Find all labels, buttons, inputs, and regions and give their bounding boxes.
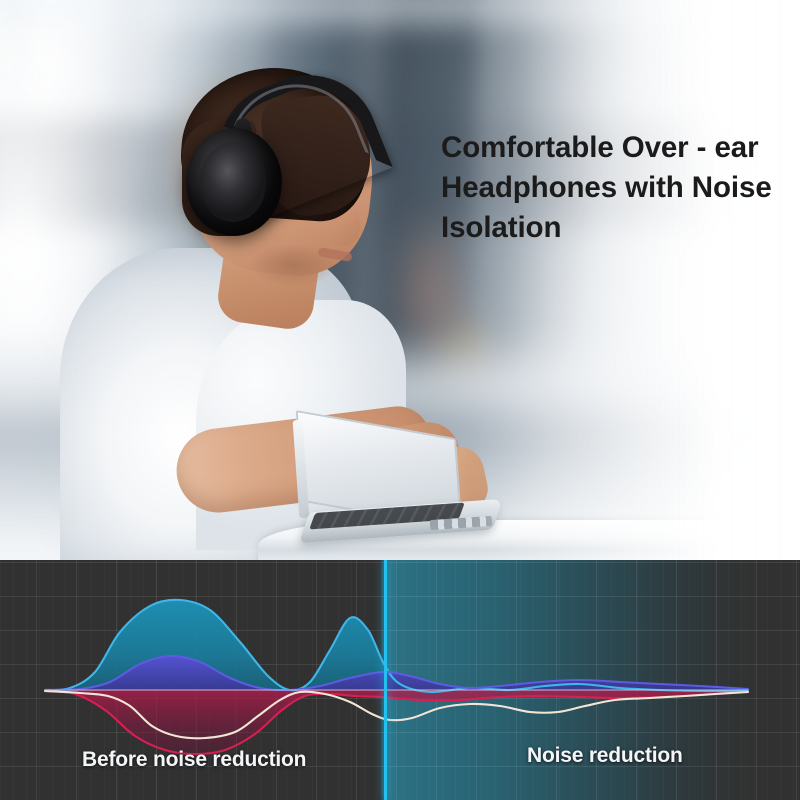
background-right-glow	[0, 0, 800, 562]
label-before-noise-reduction: Before noise reduction	[82, 748, 306, 772]
chart-divider-line	[384, 560, 387, 800]
page-title: Comfortable Over - ear Headphones with N…	[441, 128, 793, 248]
hero-photo	[0, 0, 800, 562]
label-noise-reduction: Noise reduction	[527, 744, 683, 768]
product-banner: Comfortable Over - ear Headphones with N…	[0, 0, 800, 800]
